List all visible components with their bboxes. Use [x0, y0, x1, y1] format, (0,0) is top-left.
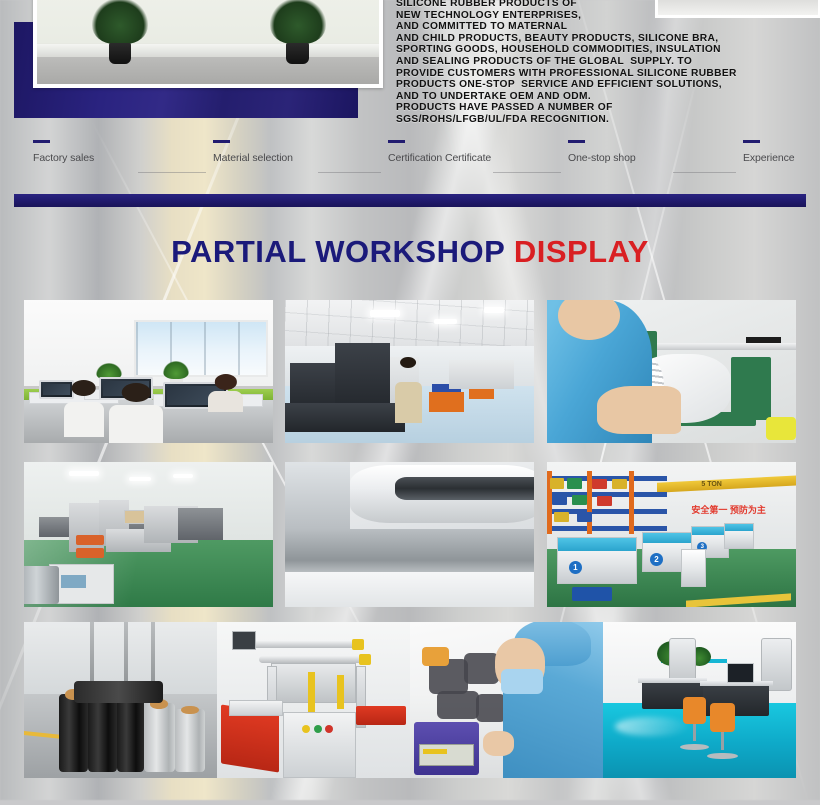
machine-side-frame — [285, 462, 350, 529]
ceiling-light-1 — [370, 310, 400, 317]
parts-bag-3 — [437, 691, 479, 719]
worker-hand — [597, 386, 682, 435]
silicone-part-forming-photo[interactable] — [547, 300, 796, 443]
red-belt-secondary — [356, 706, 406, 725]
calender-roller-closeup-photo[interactable] — [285, 462, 534, 607]
safety-post-1 — [308, 672, 315, 713]
overhead-rod-1 — [244, 641, 364, 648]
worker-hands — [483, 731, 514, 756]
workshop-gallery: 5 TON 安全第一 预防为主 1 2 — [0, 0, 820, 800]
office-chair-2 — [707, 703, 738, 759]
material-roll-rear — [74, 681, 163, 703]
converting-press-photo[interactable] — [217, 622, 410, 778]
injection-machine-4 — [724, 523, 754, 549]
tool-cart-1 — [429, 392, 464, 412]
injection-machine-1: 1 — [557, 537, 637, 583]
injection-molding-bay-photo[interactable]: 5 TON 安全第一 预防为主 1 2 — [547, 462, 796, 607]
cabinet-screen — [61, 575, 86, 588]
office-worker-2 — [109, 383, 164, 443]
floor-bin-blue — [572, 587, 612, 602]
white-sheet-output — [285, 572, 534, 607]
machine-number-badge: 1 — [569, 561, 582, 574]
extrusion-production-line-photo[interactable] — [24, 462, 273, 607]
line-ceiling-light-2 — [129, 477, 151, 481]
rear-machines — [178, 508, 223, 540]
material-roll-3 — [117, 697, 144, 772]
material-rolls-warehouse-photo[interactable] — [24, 622, 217, 778]
safety-slogan-banner: 安全第一 预防为主 — [691, 503, 766, 516]
orange-guard-1 — [76, 535, 103, 545]
machine-operator — [395, 357, 422, 423]
scale-display — [419, 744, 474, 766]
machine-base-row — [285, 403, 405, 432]
parts-bag-2 — [464, 653, 499, 684]
green-fixture-right — [731, 357, 771, 420]
measurement-lab-photo[interactable] — [603, 622, 796, 778]
motor-housing — [232, 631, 255, 650]
material-roll-4 — [144, 703, 175, 772]
qc-inspection-worker-photo[interactable] — [410, 622, 603, 778]
parts-shelving-rack — [547, 471, 667, 535]
material-drum — [24, 566, 59, 604]
yellow-tray — [766, 417, 796, 440]
office-worker-1 — [64, 380, 104, 437]
orange-guard-2 — [76, 548, 103, 558]
tool-handle — [746, 337, 781, 343]
roller-shaft — [395, 477, 534, 500]
line-ceiling-light-1 — [69, 471, 99, 477]
crane-capacity-label: 5 TON — [701, 481, 722, 488]
machine-number-badge: 2 — [650, 553, 663, 566]
press-main-body — [283, 712, 356, 778]
dryer-unit — [681, 549, 706, 587]
office-workstations-photo[interactable] — [24, 300, 273, 443]
bench-top-surface — [638, 678, 707, 683]
material-roll-1 — [59, 694, 88, 772]
far-machines — [449, 360, 514, 389]
control-button-green — [314, 725, 322, 733]
office-window — [134, 320, 268, 377]
control-button-red — [325, 725, 333, 733]
worker-head — [558, 300, 620, 340]
material-roll-5 — [175, 709, 206, 771]
cnc-machining-floor-photo[interactable] — [285, 300, 534, 443]
control-button-yellow — [302, 725, 310, 733]
lab-monitor — [727, 663, 754, 683]
line-ceiling-light-3 — [173, 474, 193, 478]
digital-weighing-scale — [414, 722, 480, 775]
parts-bag-4 — [476, 694, 507, 722]
ceiling-light-3 — [484, 307, 504, 313]
safety-post-2 — [337, 675, 344, 709]
worker-face-mask — [501, 669, 543, 694]
office-worker-3 — [208, 374, 243, 411]
feed-table — [229, 700, 283, 716]
ceiling-light-2 — [434, 319, 456, 325]
orange-parts-bundle — [422, 647, 449, 666]
office-chair-1 — [680, 697, 709, 750]
